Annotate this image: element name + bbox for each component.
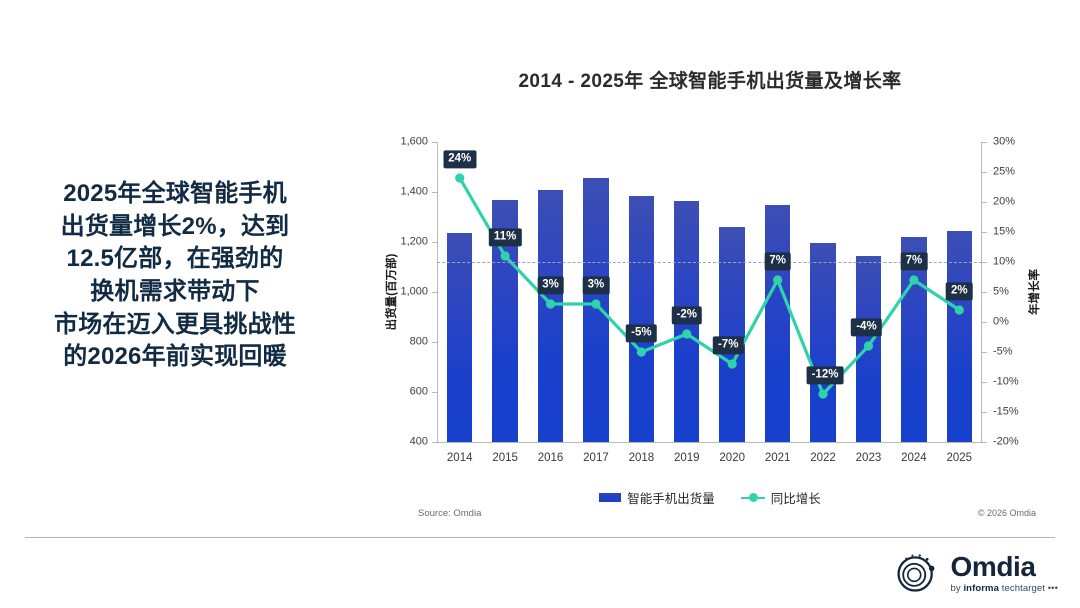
left-axis-tick-label: 1,000	[400, 287, 428, 298]
bar-swatch-icon	[599, 493, 621, 502]
x-axis-label: 2022	[810, 452, 836, 464]
data-label: 7%	[764, 252, 791, 270]
footer-divider	[25, 537, 1055, 538]
data-label: -7%	[713, 336, 743, 354]
headline-text: 2025年全球智能手机出货量增长2%，达到12.5亿部，在强劲的换机需求带动下市…	[0, 178, 350, 374]
legend-label-growth: 同比增长	[771, 488, 821, 507]
headline-line: 市场在迈入更具挑战性	[0, 309, 350, 342]
left-axis-tick-label: 800	[410, 337, 428, 348]
line-marker	[501, 251, 510, 260]
x-axis-label: 2021	[765, 452, 791, 464]
x-axis-label: 2017	[583, 452, 609, 464]
x-axis-label: 2024	[901, 452, 927, 464]
line-swatch-icon	[741, 493, 765, 503]
data-label: -2%	[672, 306, 702, 324]
omdia-tagline: by informa techtarget •••	[950, 584, 1058, 594]
right-axis-tick	[982, 232, 987, 233]
x-axis-label: 2019	[674, 452, 700, 464]
data-label: -12%	[807, 366, 844, 384]
line-marker	[637, 347, 646, 356]
data-label: 3%	[583, 276, 610, 294]
left-axis-tick-label: 400	[410, 437, 428, 448]
headline-line: 12.5亿部，在强劲的	[0, 243, 350, 276]
growth-line	[460, 178, 960, 394]
right-axis-tick	[982, 292, 987, 293]
growth-line-series	[437, 142, 982, 442]
line-marker	[546, 299, 555, 308]
right-axis-tick-label: 5%	[993, 287, 1009, 298]
chart-legend: 智能手机出货量 同比增长	[380, 488, 1040, 507]
line-marker	[728, 359, 737, 368]
right-axis-tick-label: 0%	[993, 317, 1009, 328]
right-axis-tick	[982, 352, 987, 353]
x-axis-label: 2016	[538, 452, 564, 464]
headline-line: 出货量增长2%，达到	[0, 211, 350, 244]
line-marker	[591, 299, 600, 308]
headline-line: 2025年全球智能手机	[0, 178, 350, 211]
x-axis-label: 2018	[629, 452, 655, 464]
left-axis-tick-label: 600	[410, 387, 428, 398]
right-axis-tick-label: 25%	[993, 167, 1015, 178]
right-axis-tick	[982, 202, 987, 203]
line-marker	[818, 389, 827, 398]
right-axis-tick	[982, 382, 987, 383]
line-marker	[864, 341, 873, 350]
legend-item-growth: 同比增长	[741, 488, 821, 507]
legend-label-shipments: 智能手机出货量	[627, 488, 715, 507]
chart-title: 2014 - 2025年 全球智能手机出货量及增长率	[380, 66, 1040, 93]
bottom-axis-line	[437, 442, 982, 443]
line-marker	[773, 275, 782, 284]
data-label: 2%	[946, 282, 973, 300]
left-axis-title: 出货量(百万部)	[383, 254, 399, 331]
omdia-logo-mark-icon	[894, 550, 940, 596]
right-axis-tick	[982, 262, 987, 263]
omdia-logo: Omdia by informa techtarget •••	[894, 550, 1058, 596]
line-marker	[682, 329, 691, 338]
data-label: -5%	[626, 324, 656, 342]
right-axis-tick-label: -20%	[993, 437, 1019, 448]
legend-item-shipments: 智能手机出货量	[599, 488, 715, 507]
right-axis-tick	[982, 322, 987, 323]
right-axis-tick	[982, 442, 987, 443]
x-axis-label: 2015	[492, 452, 518, 464]
chart-container: 4006008001,0001,2001,4001,600 -20%-15%-1…	[380, 120, 1040, 470]
line-marker	[909, 275, 918, 284]
right-axis-tick-label: 15%	[993, 227, 1015, 238]
left-axis-tick-label: 1,200	[400, 237, 428, 248]
right-axis-title: 年增长率	[1026, 269, 1042, 315]
data-label: 3%	[537, 276, 564, 294]
data-label: 11%	[489, 228, 521, 246]
right-axis-tick-label: 30%	[993, 137, 1015, 148]
left-axis-tick	[432, 442, 437, 443]
x-axis-label: 2014	[447, 452, 473, 464]
source-note: Source: Omdia	[418, 508, 481, 519]
right-axis-tick-label: -10%	[993, 377, 1019, 388]
plot-area: 4006008001,0001,2001,4001,600 -20%-15%-1…	[437, 142, 982, 442]
line-marker	[455, 173, 464, 182]
data-label: -4%	[851, 318, 881, 336]
right-axis-tick-label: -5%	[993, 347, 1013, 358]
headline-line: 的2026年前实现回暖	[0, 341, 350, 374]
right-axis-tick	[982, 172, 987, 173]
left-axis-tick-label: 1,400	[400, 187, 428, 198]
data-label: 7%	[901, 252, 928, 270]
x-axis-label: 2020	[719, 452, 745, 464]
x-axis-label: 2025	[946, 452, 972, 464]
right-axis-tick-label: -15%	[993, 407, 1019, 418]
line-marker	[955, 305, 964, 314]
copyright-note: © 2026 Omdia	[978, 508, 1036, 518]
omdia-wordmark: Omdia	[950, 553, 1058, 581]
right-axis-tick-label: 20%	[993, 197, 1015, 208]
x-axis-label: 2023	[856, 452, 882, 464]
right-axis-tick	[982, 412, 987, 413]
right-axis-tick-label: 10%	[993, 257, 1015, 268]
omdia-logo-text: Omdia by informa techtarget •••	[950, 553, 1058, 594]
right-axis-tick	[982, 142, 987, 143]
data-label: 24%	[443, 150, 476, 168]
left-axis-tick-label: 1,600	[400, 137, 428, 148]
headline-line: 换机需求带动下	[0, 276, 350, 309]
